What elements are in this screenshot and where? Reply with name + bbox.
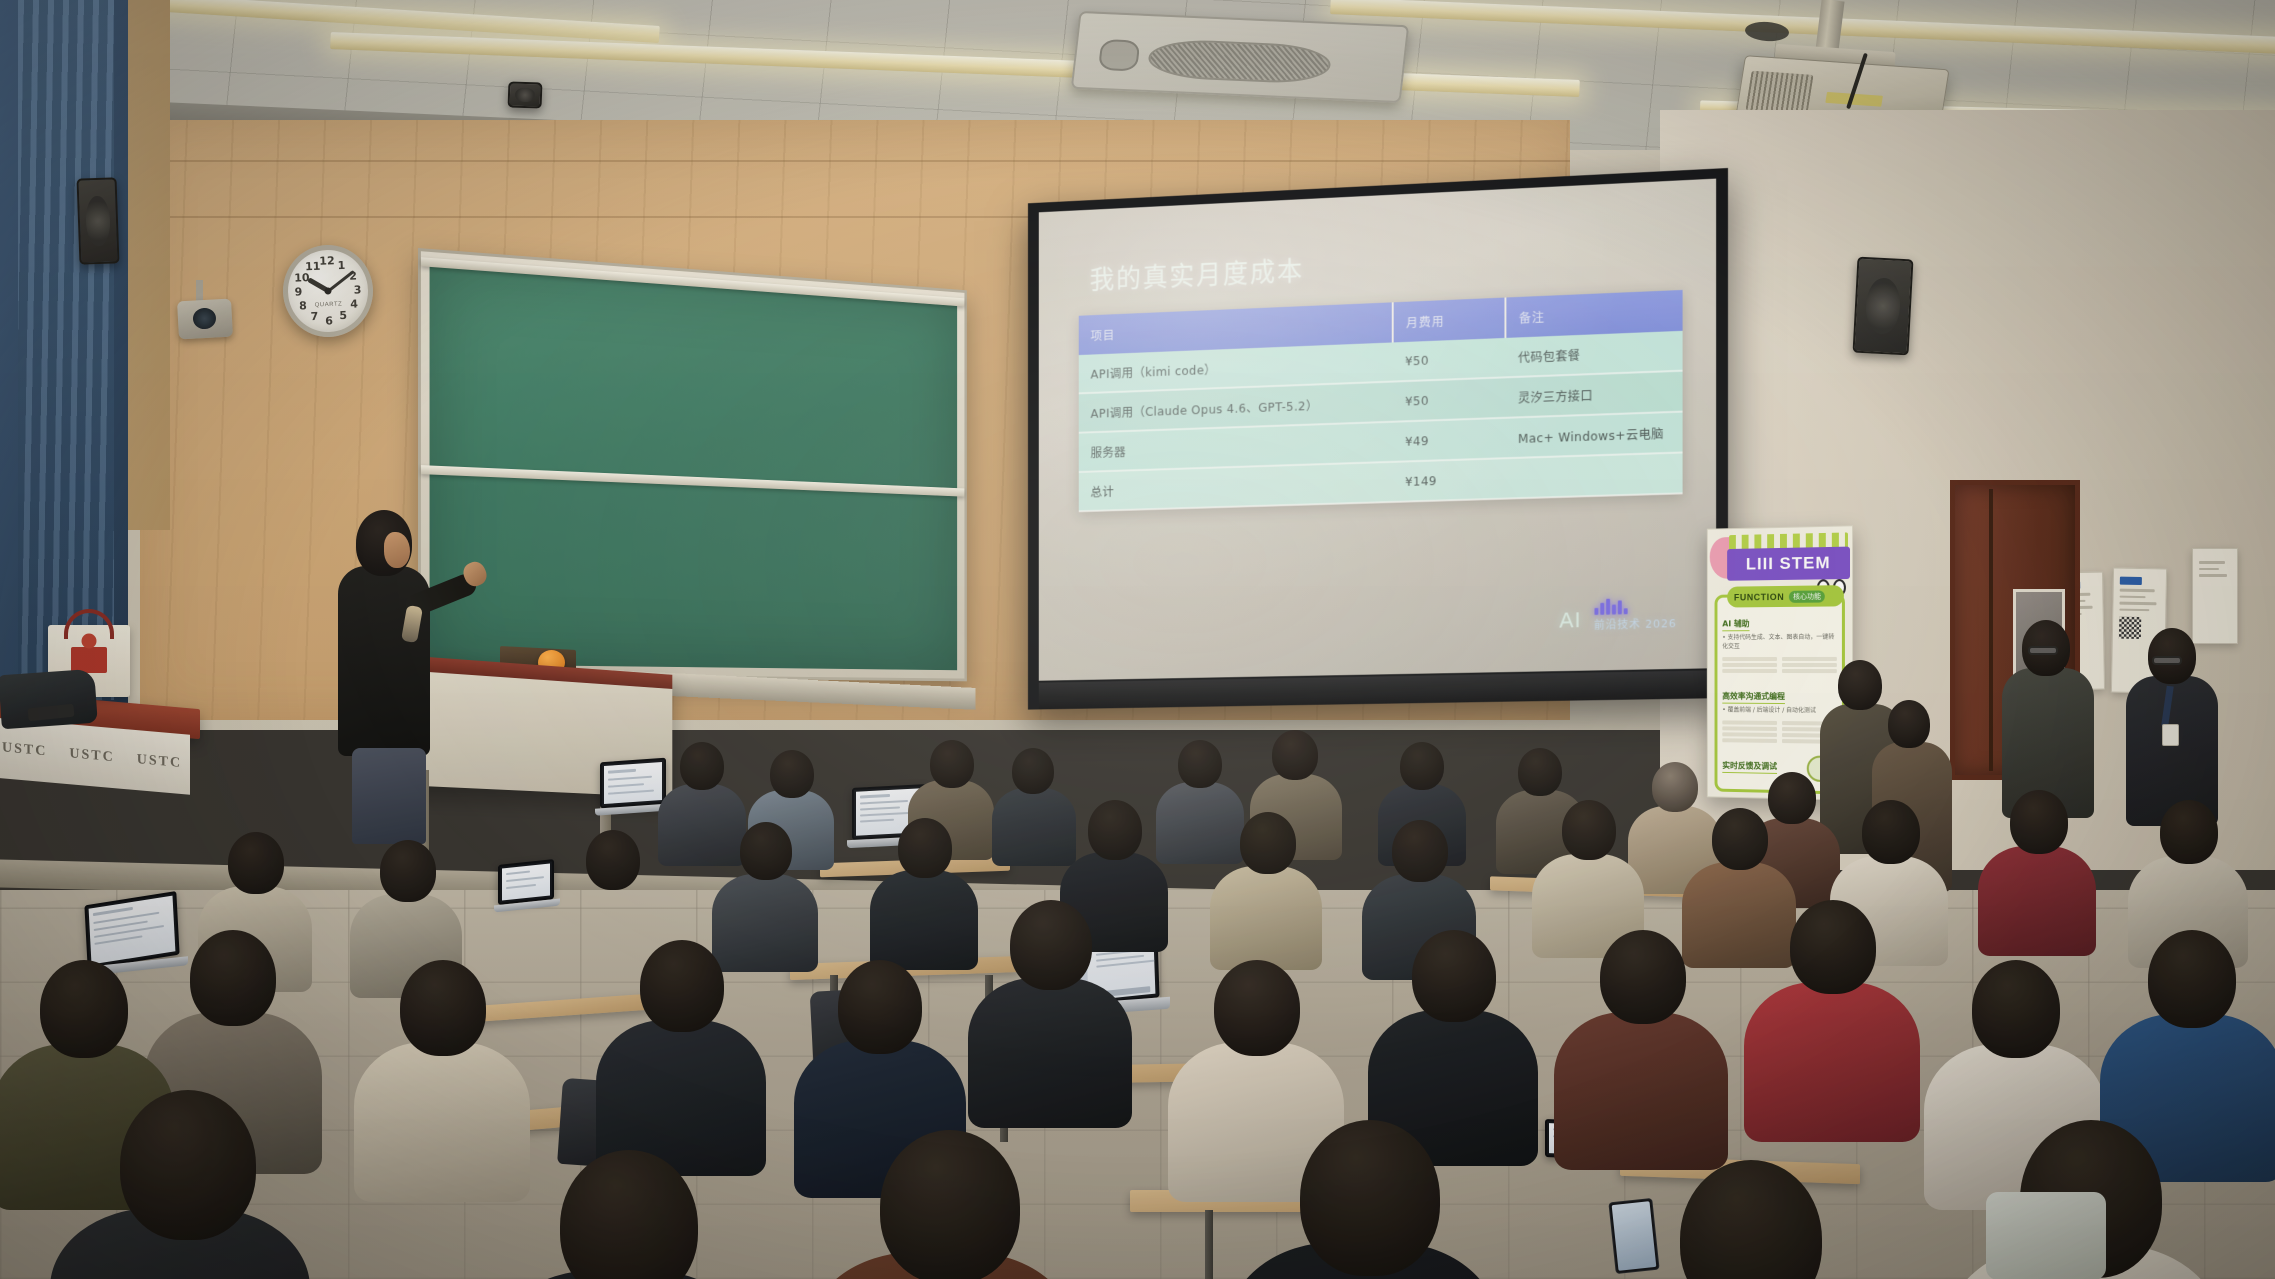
dark-bag <box>0 669 98 730</box>
presenter <box>330 510 480 840</box>
tote-logo-dot <box>82 633 97 648</box>
clock-number: 10 <box>294 271 310 285</box>
blackboard <box>418 248 967 681</box>
attendee-head <box>1838 660 1882 710</box>
wall-speaker-top <box>508 81 543 108</box>
id-badge <box>2162 724 2179 746</box>
cost-table: 项目 月费用 备注 API调用（kimi code） ¥50 代码包套餐 API… <box>1079 290 1683 512</box>
slide-logo: AI 前沿技术 2026 <box>1559 597 1676 633</box>
poster-bullet: • 覆盖前端 / 后端设计 / 自动化测试 <box>1722 706 1837 716</box>
col-header-fee: 月费用 <box>1393 298 1506 343</box>
tote-logo <box>71 647 107 673</box>
wall-poster-far <box>2192 548 2238 644</box>
laptop-screen <box>600 758 666 809</box>
wall-camera <box>177 299 233 340</box>
logo-stack: 前沿技术 2026 <box>1594 597 1677 633</box>
ceiling-ac-unit <box>1071 11 1410 103</box>
poster-logo-icon <box>2120 577 2142 585</box>
ustc-label: USTC <box>137 752 182 772</box>
cell-fee: ¥50 <box>1393 377 1506 421</box>
door-gap <box>1989 489 1993 771</box>
ac-grille-icon <box>1146 38 1333 84</box>
ustc-label: USTC <box>69 746 114 766</box>
poster-function-tag: 核心功能 <box>1789 590 1825 602</box>
laptop-screen <box>498 859 554 905</box>
poster-bullet: • 支持代码生成、文本、图表自动，一键转化交互 <box>1722 633 1837 651</box>
poster-diagram <box>1722 655 1837 675</box>
clock-number: 4 <box>350 297 358 310</box>
cell-note: 灵汐三方接口 <box>1505 371 1682 418</box>
laptop-screen-content <box>502 863 550 900</box>
poster-function-label: FUNCTION <box>1734 591 1784 602</box>
clock-number: 11 <box>305 259 321 273</box>
col-header-note: 备注 <box>1505 290 1682 338</box>
clock-number: 6 <box>325 314 333 327</box>
window-curtain <box>18 0 114 700</box>
glasses-icon <box>2152 656 2182 665</box>
poster-brand: LIII STEM <box>1746 553 1831 575</box>
cell-fee: ¥49 <box>1393 418 1506 462</box>
clock-number: 1 <box>337 258 345 271</box>
wood-seam <box>140 160 1570 162</box>
projector-lens-icon <box>1745 71 1813 115</box>
wall-speaker-left <box>77 177 120 264</box>
laptop-screen-content <box>604 762 662 804</box>
ac-vent-icon <box>1098 39 1141 72</box>
poster-function-band: FUNCTION 核心功能 <box>1727 585 1844 607</box>
presenter-legs <box>352 748 426 844</box>
glasses-icon <box>2028 646 2058 655</box>
poster-brand-band: LIII STEM <box>1727 547 1850 581</box>
clock-number: 12 <box>319 255 335 269</box>
poster-heading: AI 辅助 <box>1722 618 1749 631</box>
clock-number: 9 <box>294 285 302 298</box>
poster-heading: 高效率沟通式编程 <box>1722 691 1785 704</box>
cell-fee: ¥149 <box>1393 458 1506 502</box>
desk-leg <box>1205 1210 1213 1279</box>
plastic-bag <box>1986 1192 2106 1279</box>
attendee-head <box>1888 700 1930 748</box>
cell-note: Mac+ Windows+云电脑 <box>1505 412 1682 459</box>
slide-title: 我的真实月度成本 <box>1090 250 1304 297</box>
poster-heading: 实时反馈及调试 <box>1722 760 1777 774</box>
clock-number: 3 <box>354 283 362 296</box>
projection-screen: 我的真实月度成本 项目 月费用 备注 API调用（kimi code） ¥50 … <box>1028 168 1728 710</box>
smartphone[interactable] <box>1608 1198 1659 1274</box>
clock-number: 5 <box>339 309 347 322</box>
clock-number: 8 <box>299 299 307 312</box>
slide-surface: 我的真实月度成本 项目 月费用 备注 API调用（kimi code） ¥50 … <box>1039 179 1716 681</box>
logo-bars-icon <box>1594 598 1627 615</box>
clock-center-pin <box>324 287 331 294</box>
laptop-screen-content <box>89 896 176 965</box>
blackboard-surface <box>430 261 958 670</box>
logo-ai-text: AI <box>1559 607 1581 633</box>
wall-speaker-right <box>1853 257 1914 356</box>
classroom-scene: 12 1 2 3 4 5 6 7 8 9 10 11 QUARTZ 我的真实月度… <box>0 0 2275 1279</box>
presenter-face <box>384 532 410 568</box>
logo-subtitle: 前沿技术 2026 <box>1594 615 1677 633</box>
poster-qr-icon <box>2119 617 2141 639</box>
clock-number: 7 <box>310 310 318 323</box>
cell-note: 代码包套餐 <box>1505 331 1682 378</box>
cell-fee: ¥50 <box>1393 338 1506 382</box>
ustc-label: USTC <box>2 740 47 760</box>
clock-brand: QUARTZ <box>315 302 343 309</box>
cell-note <box>1505 452 1682 498</box>
